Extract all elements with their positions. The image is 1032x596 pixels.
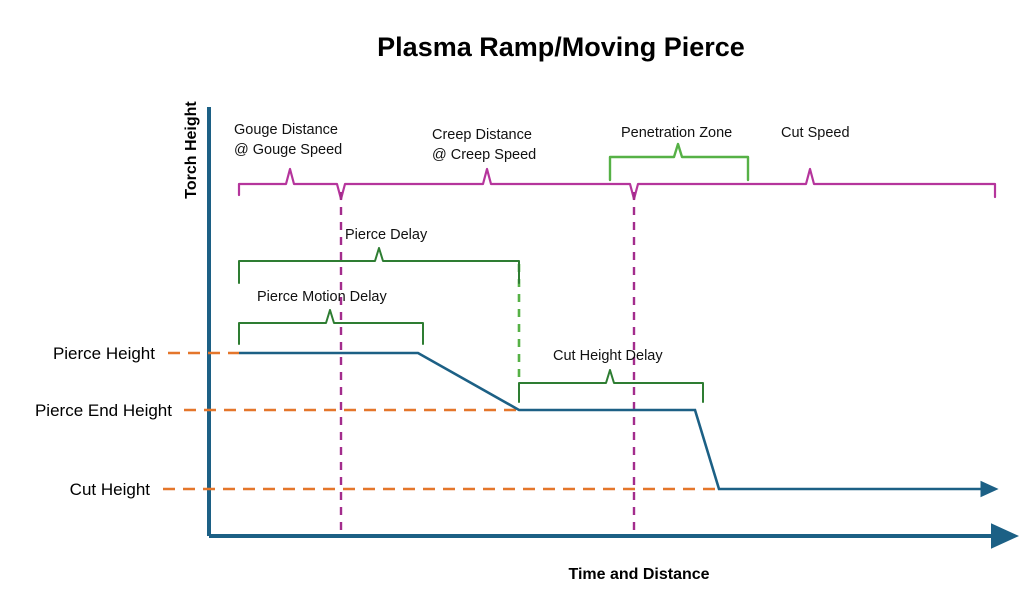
speed-bracket bbox=[239, 169, 995, 199]
label-pierce-delay: Pierce Delay bbox=[345, 227, 428, 243]
label-pierce-end-height: Pierce End Height bbox=[35, 401, 172, 420]
label-cut-height: Cut Height bbox=[70, 480, 151, 499]
plasma-ramp-diagram: Plasma Ramp/Moving Pierce Torch Height T… bbox=[0, 0, 1032, 596]
label-pierce-height: Pierce Height bbox=[53, 344, 155, 363]
cut-height-delay-brace bbox=[519, 370, 703, 402]
label-penetration-zone: Penetration Zone bbox=[621, 125, 732, 141]
label-gouge-distance-line2: @ Gouge Speed bbox=[234, 142, 342, 158]
label-cut-speed: Cut Speed bbox=[781, 125, 850, 141]
label-pierce-motion-delay: Pierce Motion Delay bbox=[257, 289, 387, 305]
label-cut-height-delay: Cut Height Delay bbox=[553, 348, 663, 364]
penetration-zone-brace bbox=[610, 144, 748, 180]
pierce-motion-delay-brace bbox=[239, 310, 423, 344]
page-title: Plasma Ramp/Moving Pierce bbox=[377, 32, 745, 62]
label-creep-distance-line2: @ Creep Speed bbox=[432, 147, 536, 163]
label-creep-distance-line1: Creep Distance bbox=[432, 127, 532, 143]
x-axis-title: Time and Distance bbox=[568, 566, 709, 583]
y-axis-title: Torch Height bbox=[183, 101, 200, 199]
pierce-delay-brace bbox=[239, 248, 519, 283]
diagram-canvas: Plasma Ramp/Moving Pierce Torch Height T… bbox=[0, 0, 1032, 596]
label-gouge-distance-line1: Gouge Distance bbox=[234, 122, 338, 138]
